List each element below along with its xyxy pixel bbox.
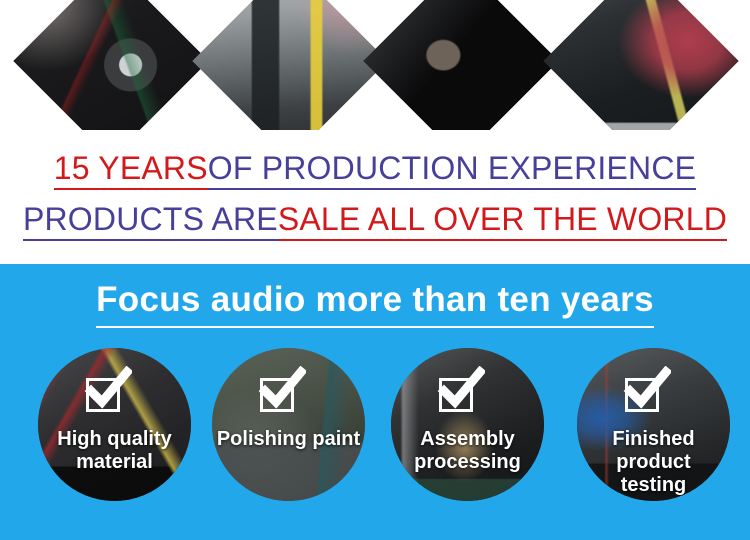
feature-label-3: Assembly processing bbox=[391, 428, 544, 474]
checkbox-check-icon bbox=[260, 370, 302, 412]
feature-label-4-line1: Finished product bbox=[579, 428, 728, 474]
check-mark-icon bbox=[84, 366, 132, 414]
diamond-photo-tile-4 bbox=[543, 0, 738, 130]
check-mark-icon bbox=[258, 366, 306, 414]
feature-circle-assembly-processing[interactable]: Assembly processing bbox=[391, 348, 544, 501]
feature-label-1-line2: material bbox=[40, 451, 189, 474]
feature-label-2-line1: Polishing paint bbox=[214, 428, 363, 451]
diamond-photo-tile-3 bbox=[363, 0, 558, 130]
headline-world-text: SALE ALL OVER THE WORLD bbox=[278, 203, 727, 241]
focus-audio-banner: Focus audio more than ten years High qua… bbox=[0, 264, 750, 540]
headline-products-text: PRODUCTS ARE bbox=[23, 203, 278, 241]
feature-label-1-line1: High quality bbox=[40, 428, 189, 451]
diamond-photo-strip bbox=[0, 0, 750, 130]
banner-title-text: Focus audio more than ten years bbox=[96, 282, 654, 328]
feature-circle-high-quality-material[interactable]: High quality material bbox=[38, 348, 191, 501]
feature-label-3-line1: Assembly bbox=[393, 428, 542, 451]
feature-label-3-line2: processing bbox=[393, 451, 542, 474]
banner-title: Focus audio more than ten years bbox=[0, 282, 750, 328]
headline-years-text: 15 YEARS bbox=[54, 152, 208, 190]
feature-label-2: Polishing paint bbox=[212, 428, 365, 451]
headline-block: 15 YEARS OF PRODUCTION EXPERIENCE PRODUC… bbox=[0, 130, 750, 264]
diamond-photo-tile-2 bbox=[192, 0, 387, 130]
product-detail-banner: 15 YEARS OF PRODUCTION EXPERIENCE PRODUC… bbox=[0, 0, 750, 540]
feature-label-4: Finished product testing bbox=[577, 428, 730, 497]
headline-experience-text: OF PRODUCTION EXPERIENCE bbox=[208, 152, 696, 190]
feature-label-1: High quality material bbox=[38, 428, 191, 474]
checkbox-check-icon bbox=[625, 370, 667, 412]
checkbox-check-icon bbox=[439, 370, 481, 412]
feature-circle-finished-product-testing[interactable]: Finished product testing bbox=[577, 348, 730, 501]
feature-label-4-line2: testing bbox=[579, 474, 728, 497]
feature-circle-row: High quality material Polishing paint bbox=[0, 348, 750, 540]
diamond-photo-tile-1 bbox=[13, 0, 208, 130]
check-mark-icon bbox=[437, 366, 485, 414]
checkbox-check-icon bbox=[86, 370, 128, 412]
check-mark-icon bbox=[623, 366, 671, 414]
headline-line-1: 15 YEARS OF PRODUCTION EXPERIENCE bbox=[0, 152, 750, 190]
feature-circle-polishing-paint[interactable]: Polishing paint bbox=[212, 348, 365, 501]
headline-line-2: PRODUCTS ARE SALE ALL OVER THE WORLD bbox=[0, 203, 750, 241]
